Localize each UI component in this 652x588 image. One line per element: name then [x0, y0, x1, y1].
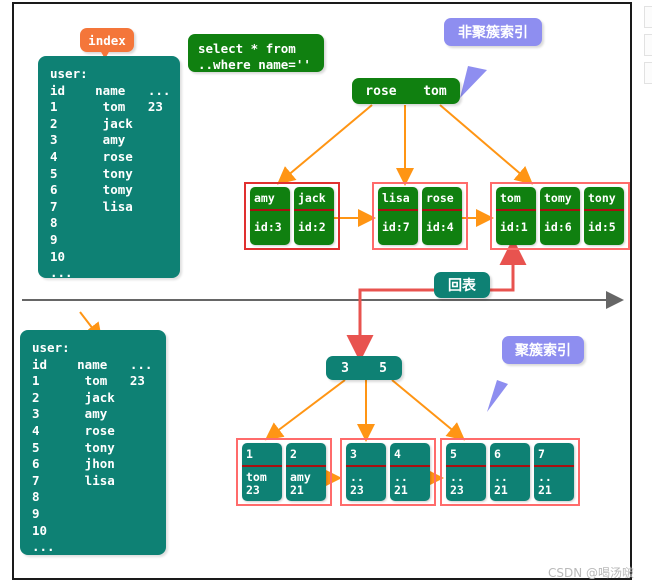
table-row: 3 amy [50, 132, 168, 149]
leaf-cell-value: amy21 [286, 467, 326, 501]
bottom-table-header: id name ... [32, 357, 154, 374]
table-row: 6 jhon [32, 456, 154, 473]
leaf-cell-key: tomy [540, 187, 580, 211]
table-row: 7 lisa [32, 473, 154, 490]
index-leaf-cell: 5..23 [446, 443, 486, 501]
index-leaf-cell: tomid:1 [496, 187, 536, 245]
table-row: ... [32, 556, 154, 573]
clustered-leaf-3: 5..236..217..21 [440, 438, 580, 506]
top-table-header: id name ... [50, 83, 168, 100]
clustered-leaf-1: 1tom232amy21 [236, 438, 332, 506]
leaf-cell-key: 2 [286, 443, 326, 467]
table-row: ... [50, 282, 168, 299]
table-row: 10 [50, 249, 168, 266]
ghost-box-1 [644, 6, 652, 28]
ghost-box-2 [644, 34, 652, 56]
bottom-table-rows: 1 tom 232 jack3 amy4 rose5 tony6 jhon7 l… [32, 373, 154, 588]
leaf-cell-key: 5 [446, 443, 486, 467]
sql-query-box: select * from ..where name='' [188, 34, 324, 72]
index-leaf-cell: 6..21 [490, 443, 530, 501]
index-leaf-cell: lisaid:7 [378, 187, 418, 245]
table-row: ... [32, 539, 154, 556]
secondary-leaf-3: tomid:1tomyid:6tonyid:5 [490, 182, 630, 250]
secondary-leaf-1: amyid:3jackid:2 [244, 182, 340, 250]
table-row: 4 rose [32, 423, 154, 440]
index-root-key: rose [365, 84, 396, 99]
leaf-cell-key: 6 [490, 443, 530, 467]
leaf-cell-value: id:3 [250, 211, 290, 245]
leaf-cell-key: 4 [390, 443, 430, 467]
leaf-cell-value: id:6 [540, 211, 580, 245]
non-clustered-index-label: 非聚簇索引 [444, 18, 542, 46]
top-table-rows: 1 tom 232 jack3 amy4 rose5 tony6 tomy7 l… [50, 99, 168, 315]
leaf-cell-key: amy [250, 187, 290, 211]
index-callout: index [80, 28, 134, 52]
index-leaf-cell: 1tom23 [242, 443, 282, 501]
table-row: 9 [32, 506, 154, 523]
ghost-box-3 [644, 62, 652, 84]
table-row: 7 lisa [50, 199, 168, 216]
leaf-cell-value: tom23 [242, 467, 282, 501]
index-leaf-cell: tomyid:6 [540, 187, 580, 245]
leaf-cell-value: ..23 [346, 467, 386, 501]
leaf-cell-value: ..23 [446, 467, 486, 501]
index-root-key: 5 [379, 361, 387, 376]
table-row: ... [50, 265, 168, 282]
back-to-table-label: 回表 [434, 272, 490, 298]
leaf-cell-key: tony [584, 187, 624, 211]
table-row: 5 tony [50, 166, 168, 183]
index-leaf-cell: 2amy21 [286, 443, 326, 501]
index-leaf-cell: roseid:4 [422, 187, 462, 245]
index-leaf-cell: 7..21 [534, 443, 574, 501]
table-row: 10 [32, 523, 154, 540]
table-row: 1 tom 23 [32, 373, 154, 390]
table-row: 2 jack [50, 116, 168, 133]
top-table-title: user: [50, 66, 168, 83]
clustered-leaf-2: 3..234..21 [340, 438, 436, 506]
index-leaf-cell: 4..21 [390, 443, 430, 501]
bottom-table-title: user: [32, 340, 154, 357]
leaf-cell-key: 3 [346, 443, 386, 467]
leaf-cell-value: id:2 [294, 211, 334, 245]
index-leaf-cell: amyid:3 [250, 187, 290, 245]
secondary-leaf-2: lisaid:7roseid:4 [372, 182, 468, 250]
bottom-user-table: user: id name ... 1 tom 232 jack3 amy4 r… [20, 330, 166, 555]
table-row: 4 rose [50, 149, 168, 166]
leaf-cell-value: id:5 [584, 211, 624, 245]
leaf-cell-value: id:7 [378, 211, 418, 245]
secondary-index-root: rosetom [352, 78, 460, 104]
index-leaf-cell: 3..23 [346, 443, 386, 501]
table-row: 8 [50, 215, 168, 232]
top-user-table: user: id name ... 1 tom 232 jack3 amy4 r… [38, 56, 180, 278]
table-row: 9 [50, 232, 168, 249]
watermark: CSDN @喝汤啵 [548, 564, 634, 581]
table-row: 3 amy [32, 406, 154, 423]
index-leaf-cell: tonyid:5 [584, 187, 624, 245]
clustered-index-root: 35 [326, 356, 402, 380]
leaf-cell-value: ..21 [390, 467, 430, 501]
leaf-cell-value: ..21 [534, 467, 574, 501]
table-row: 2 jack [32, 390, 154, 407]
leaf-cell-key: lisa [378, 187, 418, 211]
table-row: 8 [32, 489, 154, 506]
clustered-index-label: 聚簇索引 [502, 336, 584, 364]
leaf-cell-key: rose [422, 187, 462, 211]
table-row: 6 tomy [50, 182, 168, 199]
index-root-key: tom [423, 84, 446, 99]
leaf-cell-key: 7 [534, 443, 574, 467]
leaf-cell-value: id:4 [422, 211, 462, 245]
diagram-canvas: index select * from ..where name='' 非聚簇索… [0, 0, 652, 588]
leaf-cell-key: jack [294, 187, 334, 211]
index-root-key: 3 [341, 361, 349, 376]
leaf-cell-value: id:1 [496, 211, 536, 245]
leaf-cell-key: 1 [242, 443, 282, 467]
leaf-cell-value: ..21 [490, 467, 530, 501]
leaf-cell-key: tom [496, 187, 536, 211]
table-row: ... [32, 572, 154, 588]
table-row: ... [50, 298, 168, 315]
table-row: 5 tony [32, 440, 154, 457]
table-row: 1 tom 23 [50, 99, 168, 116]
index-leaf-cell: jackid:2 [294, 187, 334, 245]
